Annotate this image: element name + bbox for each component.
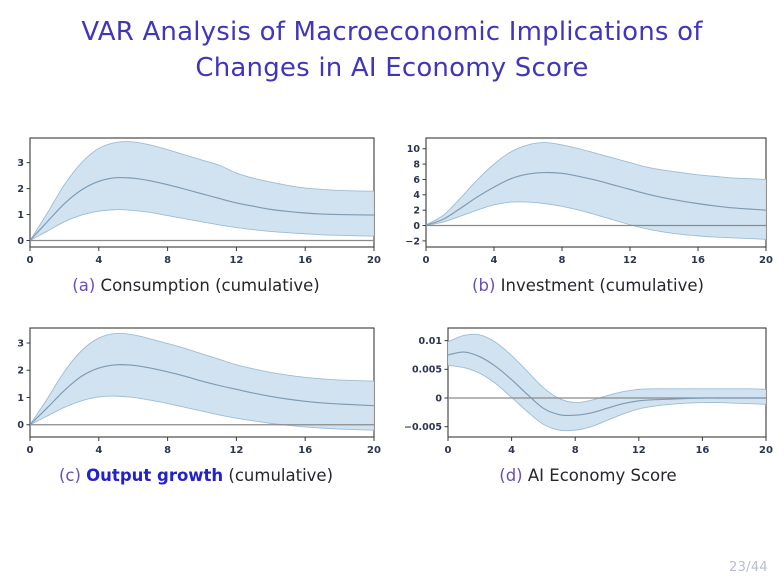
caption-tag-a: (a) <box>72 276 95 295</box>
svg-text:0: 0 <box>17 236 24 247</box>
plot-area-consumption: 0123048121620 <box>0 128 392 280</box>
svg-text:1: 1 <box>17 210 24 221</box>
chart-panel-output-growth: 0123048121620 (c) Output growth (cumulat… <box>0 318 392 516</box>
svg-text:2: 2 <box>17 184 24 195</box>
plot-area-output-growth: 0123048121620 <box>0 318 392 470</box>
caption-tail-c: (cumulative) <box>228 466 333 485</box>
svg-text:1: 1 <box>17 393 24 404</box>
svg-text:4: 4 <box>413 190 420 201</box>
page-title-line-1: VAR Analysis of Macroeconomic Implicatio… <box>0 14 784 50</box>
svg-text:4: 4 <box>491 255 498 266</box>
caption-main-d: AI Economy Score <box>528 466 677 485</box>
svg-text:12: 12 <box>623 255 637 266</box>
svg-text:−2: −2 <box>405 236 420 247</box>
svg-text:6: 6 <box>413 175 420 186</box>
svg-text:0: 0 <box>27 255 34 266</box>
svg-text:0.005: 0.005 <box>412 365 442 376</box>
chart-caption-ai-economy-score: (d) AI Economy Score <box>392 466 784 485</box>
svg-text:4: 4 <box>95 445 102 456</box>
caption-main-c: Output growth <box>86 466 223 485</box>
svg-text:0: 0 <box>17 420 24 431</box>
svg-text:3: 3 <box>17 338 24 349</box>
svg-text:3: 3 <box>17 158 24 169</box>
caption-tail-a: (cumulative) <box>215 276 320 295</box>
svg-text:8: 8 <box>164 255 171 266</box>
irf-chart-investment: −20246810048121620 <box>392 128 784 280</box>
caption-tag-d: (d) <box>499 466 522 485</box>
svg-text:20: 20 <box>759 255 773 266</box>
svg-text:2: 2 <box>17 366 24 377</box>
svg-text:16: 16 <box>298 445 312 456</box>
svg-text:16: 16 <box>298 255 312 266</box>
svg-text:0: 0 <box>27 445 34 456</box>
svg-text:8: 8 <box>572 445 579 456</box>
chart-panel-consumption: 0123048121620 (a) Consumption (cumulativ… <box>0 128 392 326</box>
svg-text:0: 0 <box>423 255 430 266</box>
svg-text:0.01: 0.01 <box>419 336 442 347</box>
page-title-line-2: Changes in AI Economy Score <box>0 50 784 86</box>
chart-caption-output-growth: (c) Output growth (cumulative) <box>0 466 392 485</box>
caption-tag-b: (b) <box>472 276 495 295</box>
caption-main-a: Consumption <box>101 276 210 295</box>
svg-text:16: 16 <box>695 445 709 456</box>
svg-text:2: 2 <box>413 206 420 217</box>
page-title: VAR Analysis of Macroeconomic Implicatio… <box>0 14 784 86</box>
svg-text:4: 4 <box>508 445 515 456</box>
svg-text:0: 0 <box>435 393 442 404</box>
svg-text:20: 20 <box>367 445 381 456</box>
chart-caption-investment: (b) Investment (cumulative) <box>392 276 784 295</box>
chart-panel-investment: −20246810048121620 (b) Investment (cumul… <box>392 128 784 326</box>
svg-text:8: 8 <box>413 159 420 170</box>
svg-text:12: 12 <box>229 445 243 456</box>
caption-main-b: Investment <box>501 276 594 295</box>
svg-text:−0.005: −0.005 <box>404 422 442 433</box>
svg-text:0: 0 <box>445 445 452 456</box>
caption-tag-c: (c) <box>59 466 81 485</box>
svg-text:20: 20 <box>367 255 381 266</box>
svg-text:10: 10 <box>407 144 421 155</box>
svg-text:8: 8 <box>164 445 171 456</box>
irf-chart-ai-economy-score: −0.00500.0050.01048121620 <box>392 318 784 470</box>
svg-text:8: 8 <box>559 255 566 266</box>
svg-text:12: 12 <box>632 445 646 456</box>
chart-panel-ai-economy-score: −0.00500.0050.01048121620 (d) AI Economy… <box>392 318 784 516</box>
svg-text:16: 16 <box>691 255 705 266</box>
irf-chart-consumption: 0123048121620 <box>0 128 392 280</box>
svg-text:0: 0 <box>413 221 420 232</box>
chart-caption-consumption: (a) Consumption (cumulative) <box>0 276 392 295</box>
page-number: 23/44 <box>729 560 768 575</box>
caption-tail-b: (cumulative) <box>599 276 704 295</box>
svg-text:20: 20 <box>759 445 773 456</box>
chart-panel-grid: 0123048121620 (a) Consumption (cumulativ… <box>0 128 784 524</box>
svg-text:4: 4 <box>95 255 102 266</box>
plot-area-investment: −20246810048121620 <box>392 128 784 280</box>
plot-area-ai-economy-score: −0.00500.0050.01048121620 <box>392 318 784 470</box>
irf-chart-output-growth: 0123048121620 <box>0 318 392 470</box>
svg-text:12: 12 <box>229 255 243 266</box>
